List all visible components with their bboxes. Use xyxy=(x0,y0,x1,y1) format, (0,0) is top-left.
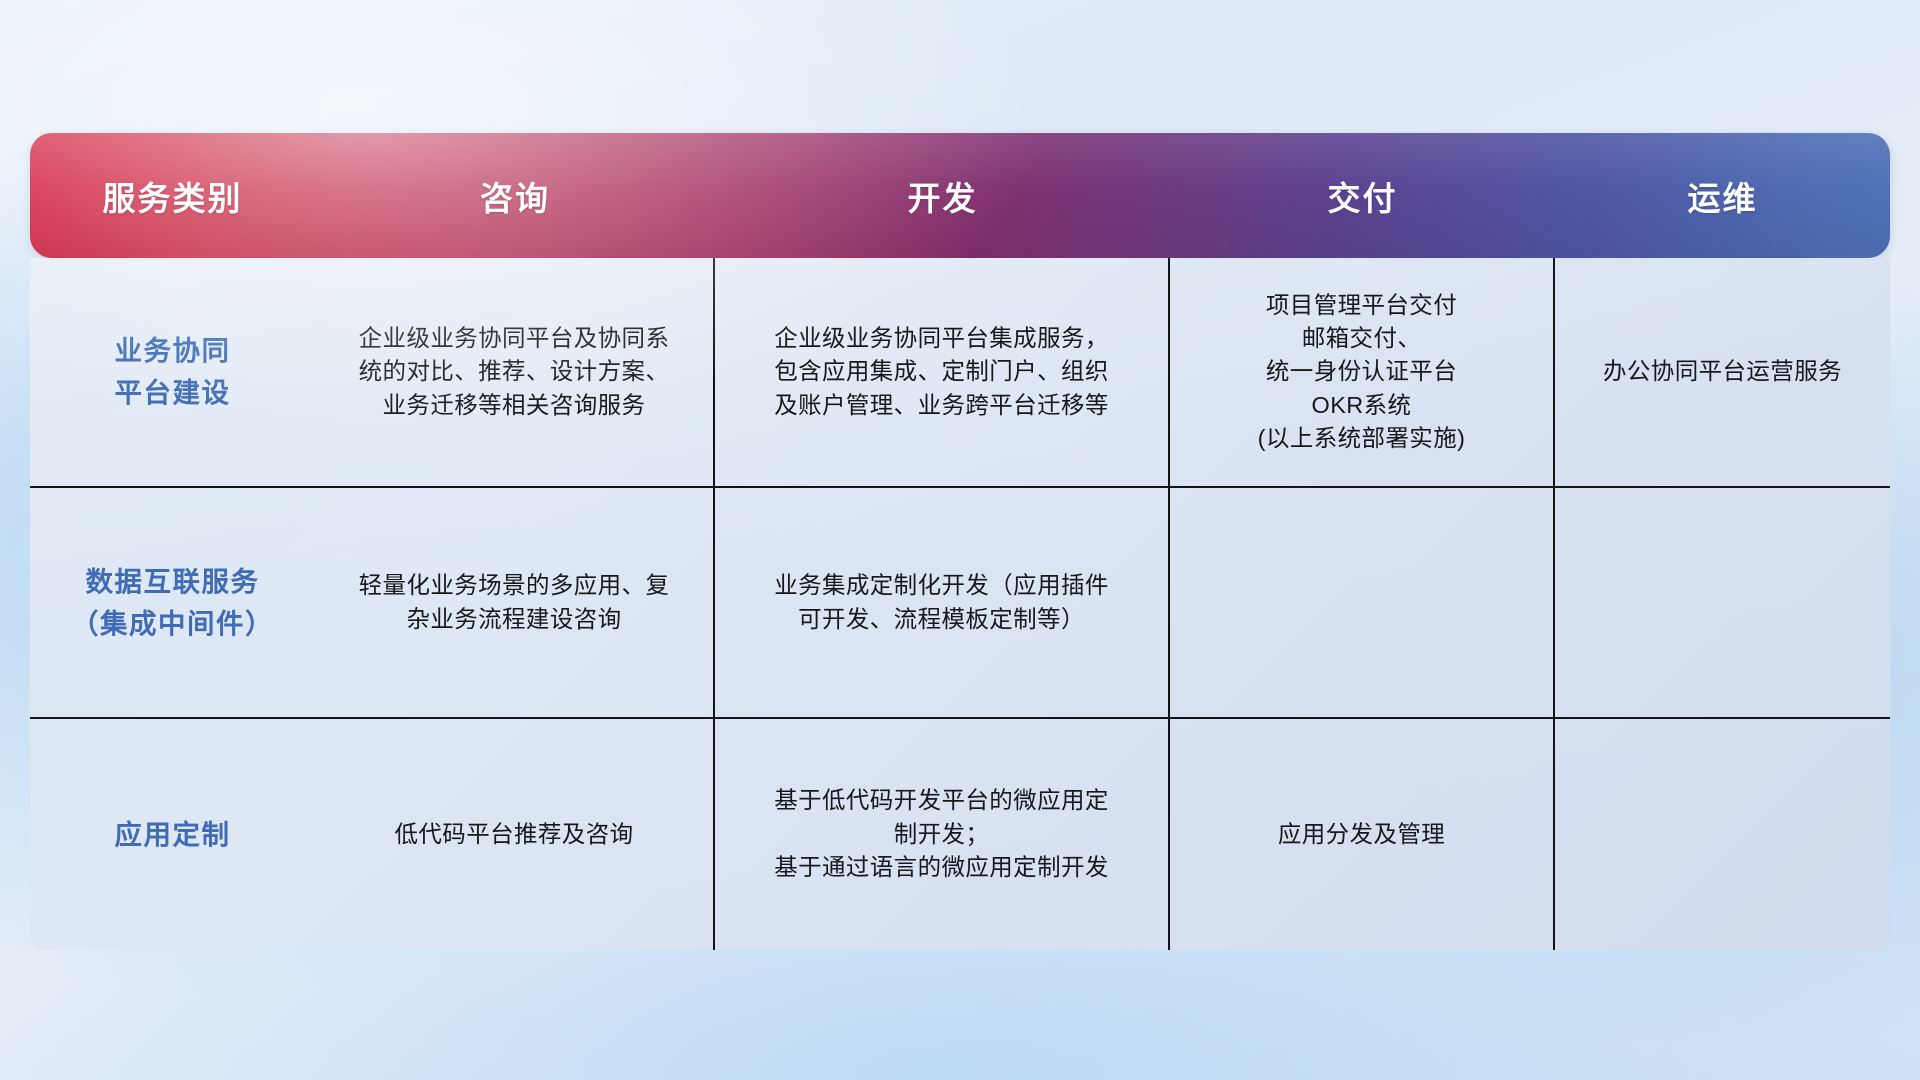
cell-delivery: 应用分发及管理 xyxy=(1170,719,1555,950)
table-row: 数据互联服务 （集成中间件） 轻量化业务场景的多应用、复 杂业务流程建设咨询 业… xyxy=(30,488,1890,719)
cell-development: 企业级业务协同平台集成服务， 包含应用集成、定制门户、组织 及账户管理、业务跨平… xyxy=(715,258,1170,486)
cell-operations xyxy=(1555,719,1890,950)
cell-category: 数据互联服务 （集成中间件） xyxy=(30,488,315,717)
cell-consulting: 企业级业务协同平台及协同系 统的对比、推荐、设计方案、 业务迁移等相关咨询服务 xyxy=(315,258,715,486)
cell-consulting: 低代码平台推荐及咨询 xyxy=(315,719,715,950)
cell-category: 应用定制 xyxy=(30,719,315,950)
table-row: 应用定制 低代码平台推荐及咨询 基于低代码开发平台的微应用定 制开发； 基于通过… xyxy=(30,719,1890,950)
cell-consulting: 轻量化业务场景的多应用、复 杂业务流程建设咨询 xyxy=(315,488,715,717)
cell-category: 业务协同 平台建设 xyxy=(30,258,315,486)
column-header-development: 开发 xyxy=(715,172,1170,220)
column-header-operations: 运维 xyxy=(1555,172,1890,220)
column-header-delivery: 交付 xyxy=(1170,172,1555,220)
table-body: 业务协同 平台建设 企业级业务协同平台及协同系 统的对比、推荐、设计方案、 业务… xyxy=(30,258,1890,950)
column-header-service-category: 服务类别 xyxy=(30,172,315,220)
cell-development: 业务集成定制化开发（应用插件 可开发、流程模板定制等） xyxy=(715,488,1170,717)
cell-delivery: 项目管理平台交付 邮箱交付、 统一身份认证平台 OKR系统 (以上系统部署实施) xyxy=(1170,258,1555,486)
cell-operations xyxy=(1555,488,1890,717)
column-header-consulting: 咨询 xyxy=(315,172,715,220)
service-category-table: 服务类别 咨询 开发 交付 运维 业务协同 平台建设 企业级业务协同平台及协同系… xyxy=(30,133,1890,951)
cell-delivery xyxy=(1170,488,1555,717)
table-row: 业务协同 平台建设 企业级业务协同平台及协同系 统的对比、推荐、设计方案、 业务… xyxy=(30,258,1890,488)
cell-development: 基于低代码开发平台的微应用定 制开发； 基于通过语言的微应用定制开发 xyxy=(715,719,1170,950)
cell-operations: 办公协同平台运营服务 xyxy=(1555,258,1890,486)
table-header-row: 服务类别 咨询 开发 交付 运维 xyxy=(30,133,1890,258)
page-background: 服务类别 咨询 开发 交付 运维 业务协同 平台建设 企业级业务协同平台及协同系… xyxy=(0,0,1920,1080)
